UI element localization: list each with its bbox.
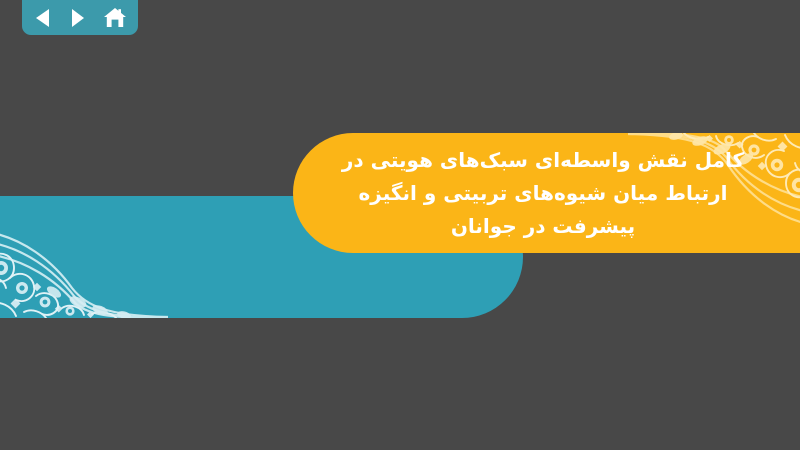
navigation-bar <box>22 0 138 35</box>
triangle-right-icon <box>70 8 86 28</box>
presentation-slide: کامل نقش واسطه‌ای سبک‌های هویتی در ارتبا… <box>0 0 800 450</box>
next-button[interactable] <box>70 8 86 28</box>
home-button[interactable] <box>103 7 127 29</box>
arabesque-ornament-icon <box>628 133 800 253</box>
arabesque-ornament-icon <box>0 196 168 318</box>
orange-title-panel <box>293 133 800 253</box>
previous-button[interactable] <box>34 8 52 28</box>
home-icon <box>103 7 127 29</box>
triangle-left-icon <box>34 8 52 28</box>
